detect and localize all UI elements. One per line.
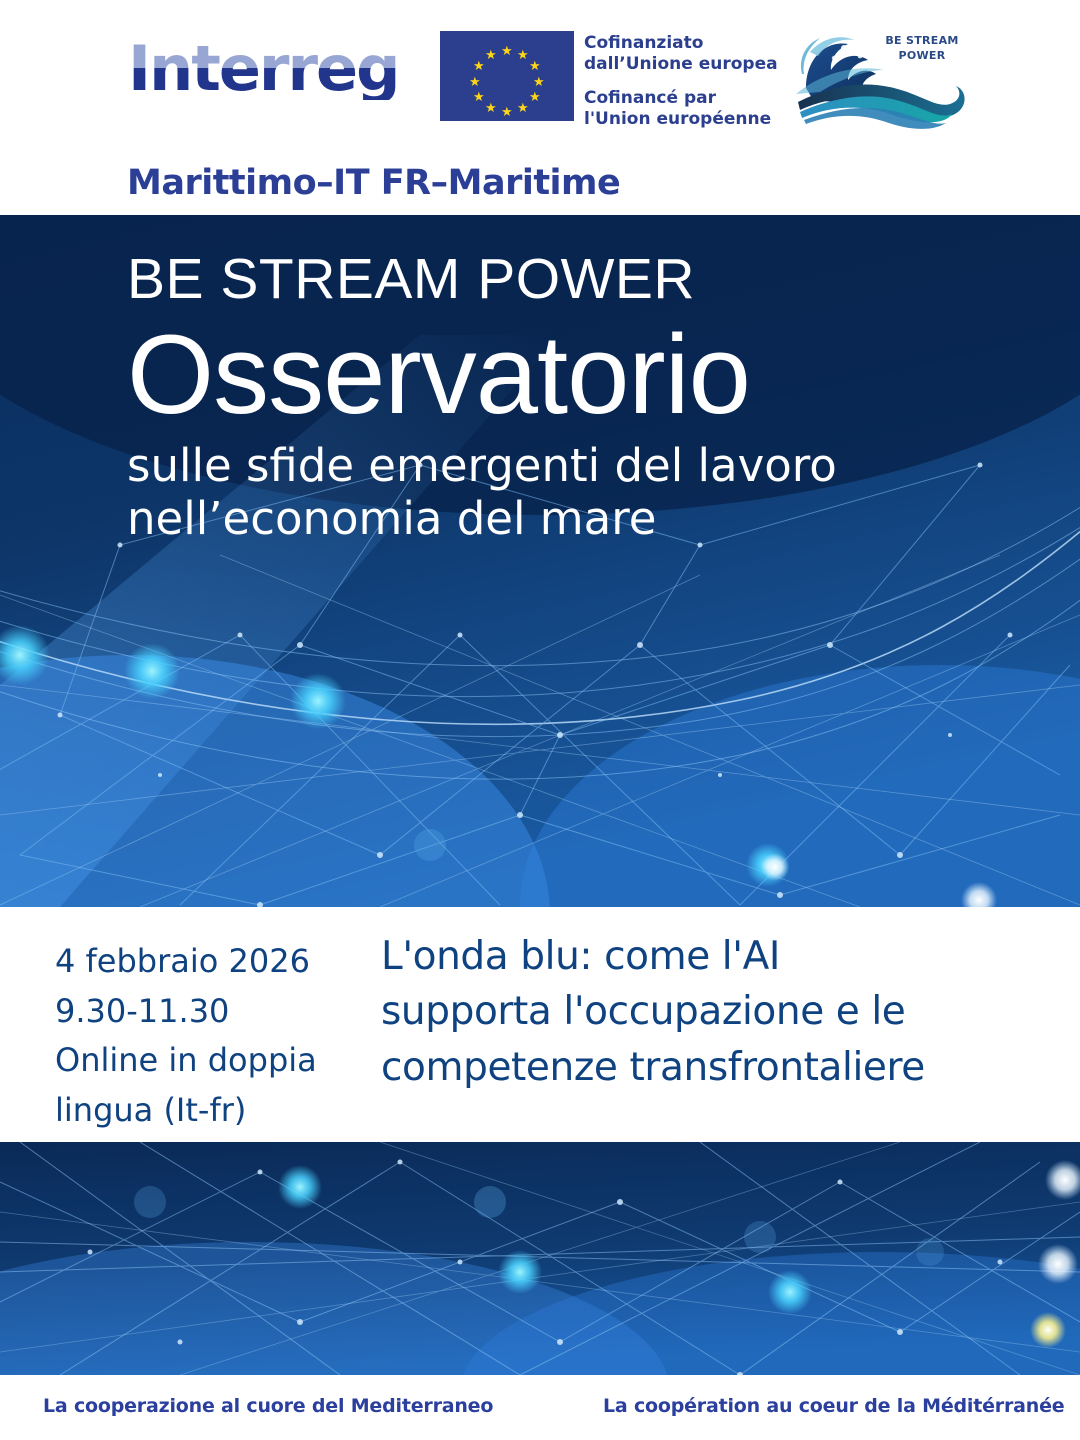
- hero-kicker: BE STREAM POWER: [127, 250, 1047, 310]
- poster-root: Interreg Cofinanziato dall’Unione: [0, 0, 1080, 1440]
- eu-funding-fr-line2: l'Union européenne: [584, 109, 778, 130]
- logo-text-line2: POWER: [876, 49, 968, 64]
- be-stream-power-logo-text: BE STREAM POWER: [876, 34, 968, 64]
- hero-title: Osservatorio: [127, 312, 1047, 437]
- footer-slogan-it: La cooperazione al cuore del Mediterrane…: [43, 1395, 493, 1417]
- hero-subtitle-line1: sulle sfide emergenti del lavoro: [127, 439, 957, 492]
- event-details: 4 febbraio 2026 9.30-11.30 Online in dop…: [55, 937, 355, 1135]
- event-mode-line2: lingua (It-fr): [55, 1086, 355, 1136]
- event-mode-line1: Online in doppia: [55, 1036, 355, 1086]
- session-title-line1: L'onda blu: come l'AI: [381, 929, 1041, 984]
- hero-subtitle: sulle sfide emergenti del lavoro nell’ec…: [127, 439, 957, 545]
- hero-band: BE STREAM POWER Osservatorio sulle sfide…: [0, 215, 1080, 907]
- eu-funding-statement: Cofinanziato dall’Unione europea Cofinan…: [584, 33, 778, 130]
- footer-slogan-fr: La coopération au coeur de la Méditérran…: [603, 1395, 1064, 1417]
- event-time: 9.30-11.30: [55, 987, 355, 1037]
- eu-funding-it-line1: Cofinanziato: [584, 33, 778, 54]
- event-date: 4 febbraio 2026: [55, 937, 355, 987]
- lower-network-graphic: [0, 1142, 1080, 1375]
- logo-text-line1: BE STREAM: [876, 34, 968, 49]
- eu-flag-icon: [440, 31, 574, 121]
- footer-band: La cooperazione al cuore del Mediterrane…: [0, 1375, 1080, 1440]
- session-title-line2: supporta l'occupazione e le: [381, 984, 1041, 1039]
- eu-stars: [440, 31, 574, 121]
- eu-funding-fr-line1: Cofinancé par: [584, 88, 778, 109]
- lower-network-band: [0, 1142, 1080, 1375]
- eu-funding-it-line2: dall’Unione europea: [584, 54, 778, 75]
- info-band: 4 febbraio 2026 9.30-11.30 Online in dop…: [0, 907, 1080, 1142]
- hero-text-block: BE STREAM POWER Osservatorio sulle sfide…: [127, 250, 1047, 545]
- interreg-logo: Interreg: [128, 38, 398, 100]
- be-stream-power-logo: BE STREAM POWER: [790, 28, 970, 136]
- header-band: Interreg Cofinanziato dall’Unione: [0, 0, 1080, 215]
- programme-name: Marittimo–IT FR–Maritime: [127, 163, 620, 203]
- session-title-line3: competenze transfrontaliere: [381, 1040, 1041, 1095]
- session-title: L'onda blu: come l'AI supporta l'occupaz…: [381, 929, 1041, 1095]
- hero-subtitle-line2: nell’economia del mare: [127, 492, 957, 545]
